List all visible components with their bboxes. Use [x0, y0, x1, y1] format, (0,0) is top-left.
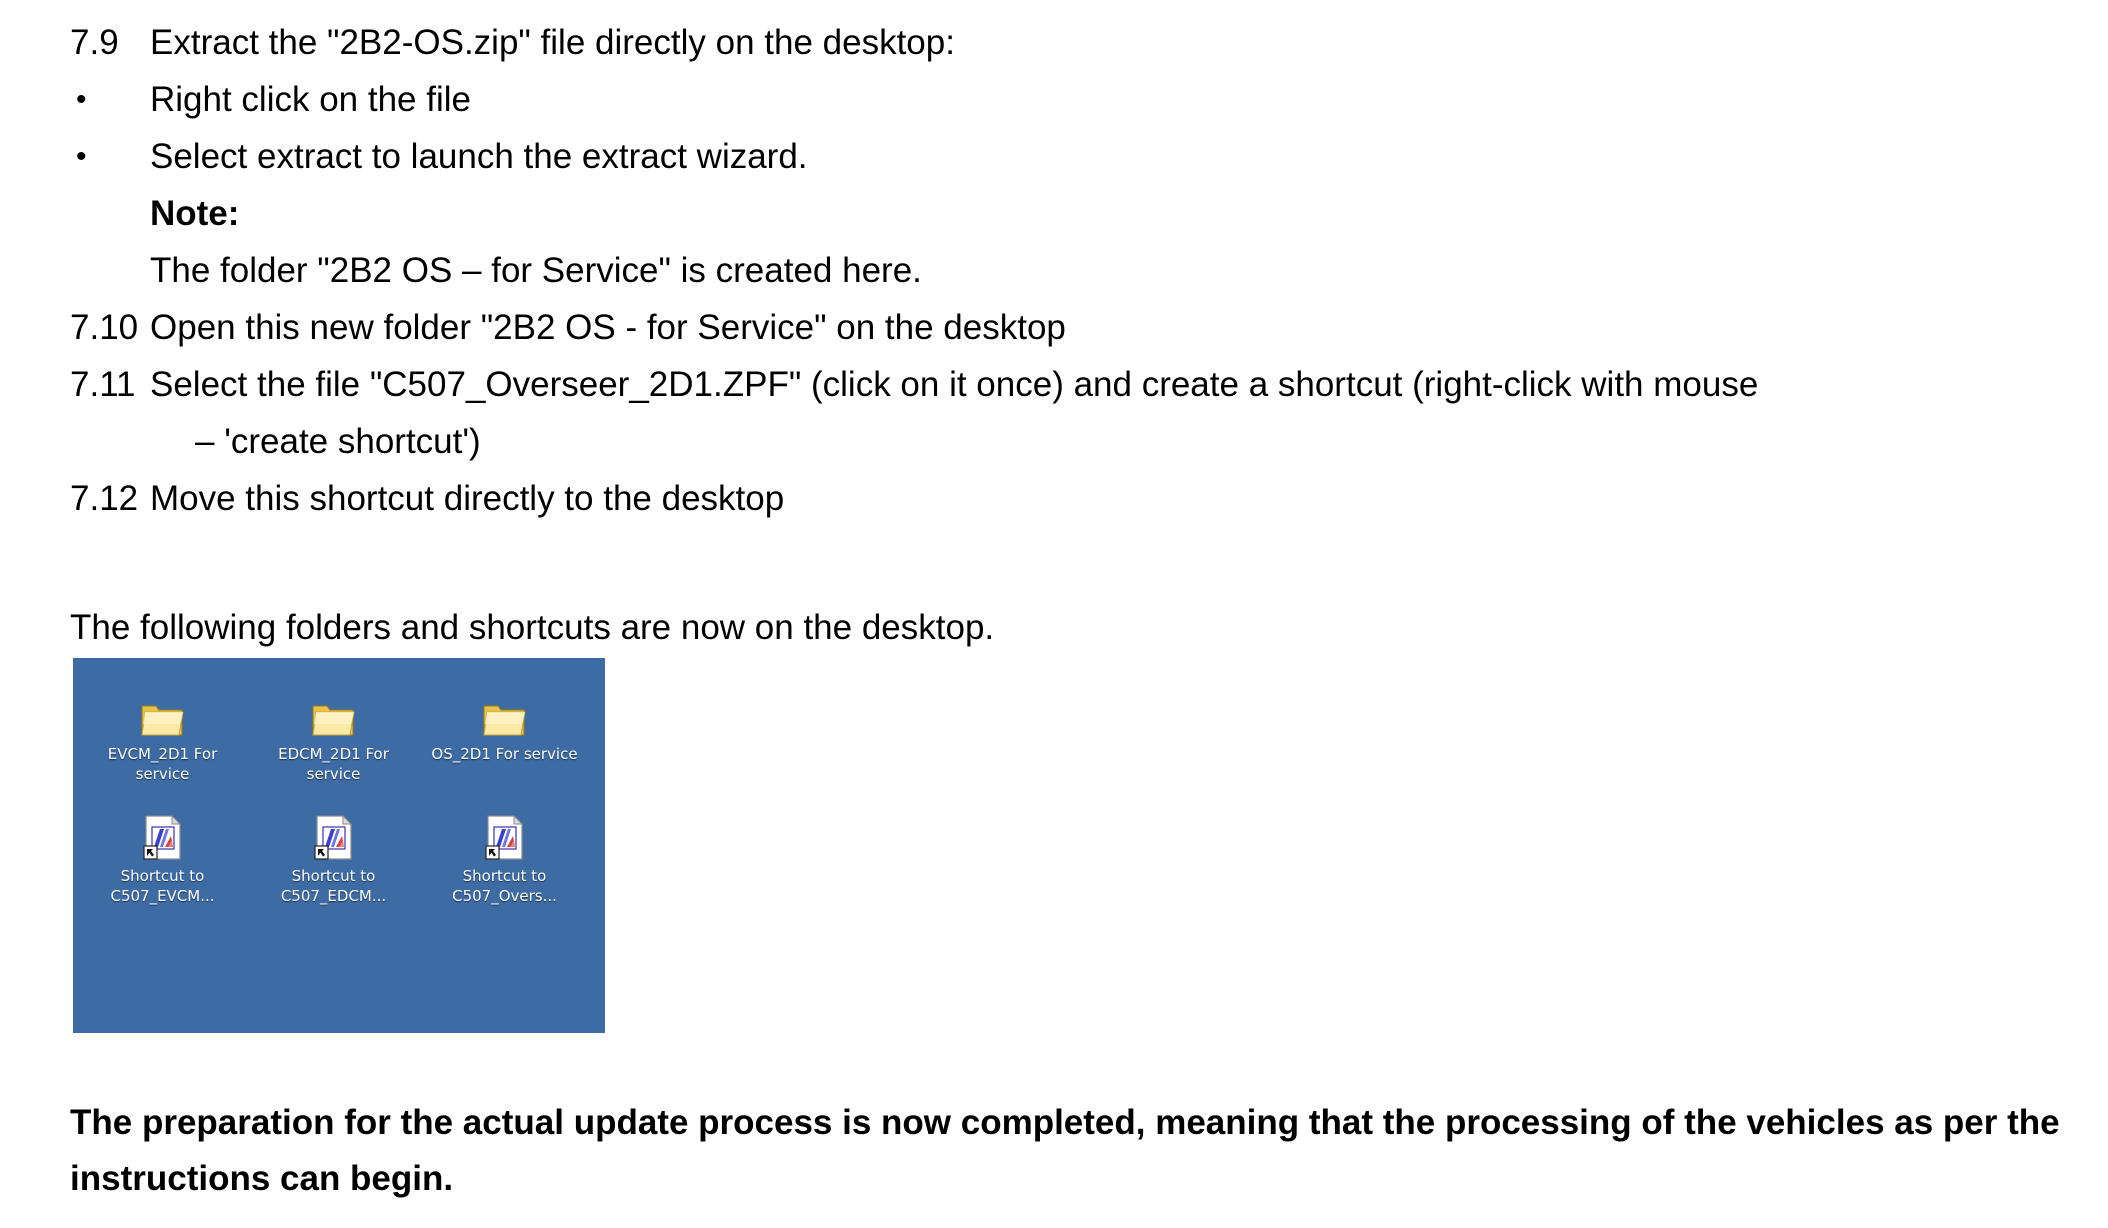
step-continuation-text: – 'create shortcut') [195, 413, 481, 470]
shortcut-file-icon [423, 804, 586, 862]
step-text: Move this shortcut directly to the deskt… [150, 470, 2080, 527]
note-indent-spacer [70, 185, 150, 242]
bullet-text: Right click on the file [150, 71, 2080, 128]
step-text: Open this new folder "2B2 OS - for Servi… [150, 299, 2080, 356]
bullet-item-select-extract: • Select extract to launch the extract w… [70, 128, 2080, 185]
continuation-indent-spacer [70, 413, 195, 470]
folder-icon [81, 682, 244, 740]
desktop-icon-os-folder[interactable]: OS_2D1 For service [423, 668, 586, 790]
note-heading: Note: [150, 185, 2080, 242]
document-page: 7.9 Extract the "2B2-OS.zip" file direct… [0, 0, 2108, 1228]
note-indent-spacer [70, 242, 150, 299]
lead-paragraph: The following folders and shortcuts are … [70, 602, 994, 654]
step-number: 7.12 [70, 470, 150, 527]
shortcut-file-icon [252, 804, 415, 862]
step-number: 7.9 [70, 14, 150, 71]
step-text: Extract the "2B2-OS.zip" file directly o… [150, 14, 2080, 71]
desktop-icon-label: Shortcut to C507_EVCM... [81, 866, 244, 906]
desktop-icon-shortcut-overseer[interactable]: Shortcut to C507_Overs... [423, 790, 586, 912]
closing-paragraph: The preparation for the actual update pr… [70, 1095, 2070, 1207]
desktop-icon-label: EVCM_2D1 For service [81, 744, 244, 784]
step-item-7-12: 7.12 Move this shortcut directly to the … [70, 470, 2080, 527]
step-item-7-11: 7.11 Select the file "C507_Overseer_2D1.… [70, 356, 2080, 413]
note-heading-row: Note: [70, 185, 2080, 242]
desktop-icon-label: Shortcut to C507_EDCM... [252, 866, 415, 906]
note-text: The folder "2B2 OS – for Service" is cre… [150, 242, 2080, 299]
desktop-icon-evcm-folder[interactable]: EVCM_2D1 For service [81, 668, 244, 790]
desktop-icon-shortcut-edcm[interactable]: Shortcut to C507_EDCM... [252, 790, 415, 912]
step-item-7-10: 7.10 Open this new folder "2B2 OS - for … [70, 299, 2080, 356]
step-text: Select the file "C507_Overseer_2D1.ZPF" … [150, 356, 2080, 413]
desktop-screenshot: EVCM_2D1 For service EDCM_2D1 For servic… [73, 658, 605, 1033]
desktop-icon-label: Shortcut to C507_Overs... [423, 866, 586, 906]
desktop-icon-label: OS_2D1 For service [423, 744, 586, 764]
desktop-icon-edcm-folder[interactable]: EDCM_2D1 For service [252, 668, 415, 790]
folder-icon [252, 682, 415, 740]
folder-icon [423, 682, 586, 740]
note-body-row: The folder "2B2 OS – for Service" is cre… [70, 242, 2080, 299]
step-number: 7.10 [70, 299, 150, 356]
step-number: 7.11 [70, 356, 150, 413]
procedure-list: 7.9 Extract the "2B2-OS.zip" file direct… [70, 14, 2080, 527]
shortcut-file-icon [81, 804, 244, 862]
step-item-7-9: 7.9 Extract the "2B2-OS.zip" file direct… [70, 14, 2080, 71]
desktop-icon-label: EDCM_2D1 For service [252, 744, 415, 784]
bullet-marker-icon: • [70, 71, 150, 128]
desktop-icon-shortcut-evcm[interactable]: Shortcut to C507_EVCM... [81, 790, 244, 912]
bullet-item-right-click: • Right click on the file [70, 71, 2080, 128]
bullet-marker-icon: • [70, 128, 150, 185]
desktop-icon-grid: EVCM_2D1 For service EDCM_2D1 For servic… [73, 668, 605, 912]
step-item-7-11-continuation: – 'create shortcut') [70, 413, 2080, 470]
bullet-text: Select extract to launch the extract wiz… [150, 128, 2080, 185]
